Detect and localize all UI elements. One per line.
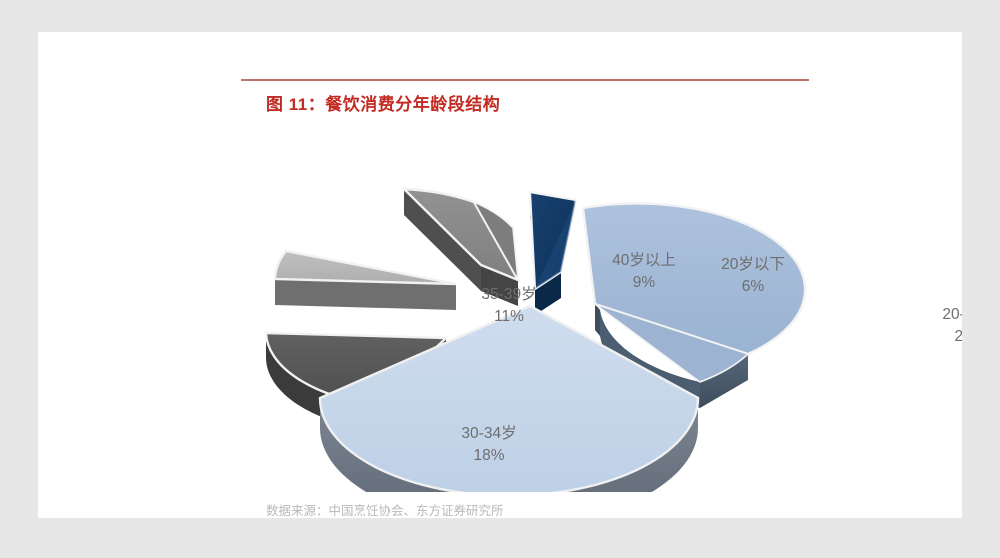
screenshot-root: 图 11：餐饮消费分年龄段结构 bbox=[0, 0, 1000, 558]
title-divider-rule bbox=[241, 79, 809, 81]
pie-label-30-34-value: 18% bbox=[461, 445, 516, 467]
pie-label-35-39: 35-39岁 11% bbox=[481, 284, 536, 329]
pie-slice-35-39[interactable] bbox=[275, 251, 456, 310]
pie-label-40-plus-name: 40岁以上 bbox=[612, 252, 676, 269]
pie-label-40-plus-value: 9% bbox=[612, 272, 676, 294]
pie-label-35-39-value: 11% bbox=[481, 306, 536, 328]
pie-label-30-34-name: 30-34岁 bbox=[461, 425, 516, 442]
pie-chart: 20岁以下 6% 20-24岁 27% 25-29岁 29% 30-34岁 18… bbox=[228, 132, 828, 492]
pie-label-40-plus: 40岁以上 9% bbox=[612, 250, 676, 295]
pie-label-under-20: 20岁以下 6% bbox=[721, 254, 785, 299]
pie-label-35-39-name: 35-39岁 bbox=[481, 286, 536, 303]
figure-title: 图 11：餐饮消费分年龄段结构 bbox=[266, 90, 500, 115]
pie-label-under-20-value: 6% bbox=[721, 276, 785, 298]
pie-label-30-34: 30-34岁 18% bbox=[461, 423, 516, 468]
pie-label-20-24: 20-24岁 27% bbox=[942, 304, 962, 349]
pie-label-20-24-value: 27% bbox=[942, 326, 962, 348]
pie-slice-under-20[interactable] bbox=[530, 192, 576, 315]
document-page: 图 11：餐饮消费分年龄段结构 bbox=[38, 32, 962, 518]
pie-label-20-24-name: 20-24岁 bbox=[942, 306, 962, 323]
pie-label-under-20-name: 20岁以下 bbox=[721, 256, 785, 273]
source-note: 数据来源：中国烹饪协会、东方证券研究所 bbox=[266, 500, 504, 518]
